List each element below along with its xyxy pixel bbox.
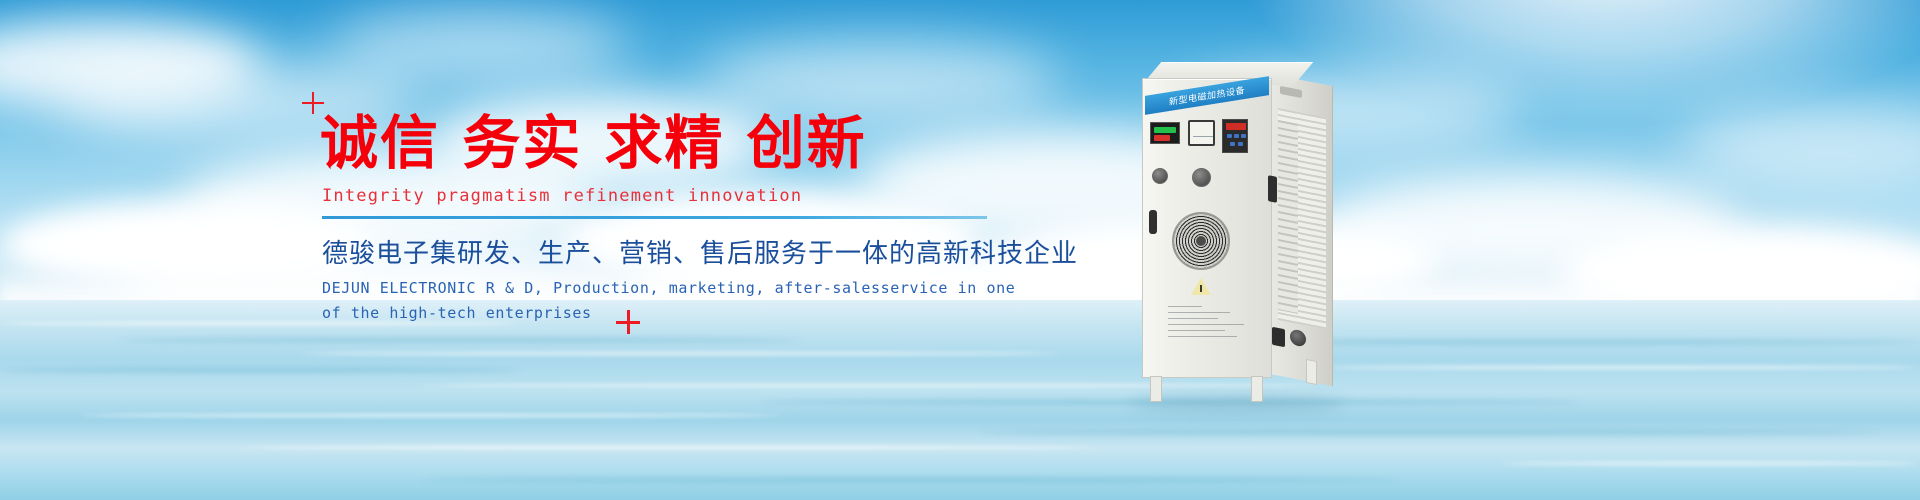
control-knob-right[interactable] xyxy=(1192,168,1211,187)
banner-description-chinese: 德骏电子集研发、生产、营销、售后服务于一体的高新科技企业 xyxy=(322,238,1078,270)
banner-text-content: 诚信 务实 求精 创新 Integrity pragmatism refinem… xyxy=(0,0,1100,500)
machine-leg xyxy=(1150,376,1162,402)
section-divider xyxy=(322,216,987,219)
machine-leg xyxy=(1306,359,1317,385)
instruction-text-block xyxy=(1168,306,1254,342)
ventilation-panel-inner xyxy=(1278,120,1298,314)
analog-meter xyxy=(1188,120,1215,146)
description-english-line-2: of the high-tech enterprises xyxy=(322,301,1015,326)
door-handle[interactable] xyxy=(1268,175,1277,203)
control-panel xyxy=(1150,118,1265,160)
hero-banner: 诚信 务实 求精 创新 Integrity pragmatism refinem… xyxy=(0,0,1920,500)
fan-grille-icon xyxy=(1172,212,1230,270)
control-knob-left[interactable] xyxy=(1152,168,1168,184)
banner-headline: 诚信 务实 求精 创新 xyxy=(320,112,867,174)
description-english-line-1: DEJUN ELECTRONIC R & D, Production, mark… xyxy=(322,276,1015,301)
machine-leg xyxy=(1251,376,1263,402)
product-image-heating-machine: 新型电磁加热设备 xyxy=(1120,60,1380,420)
control-keypad[interactable] xyxy=(1222,119,1248,153)
product-shadow xyxy=(1130,396,1345,412)
banner-description-english: DEJUN ELECTRONIC R & D, Production, mark… xyxy=(322,276,1015,326)
digital-display xyxy=(1150,122,1180,144)
banner-tagline-english: Integrity pragmatism refinement innovati… xyxy=(322,186,802,206)
plus-decoration-icon xyxy=(616,310,640,334)
warning-triangle-icon xyxy=(1191,278,1211,295)
front-handle[interactable] xyxy=(1149,210,1157,234)
cable-port xyxy=(1272,327,1285,348)
